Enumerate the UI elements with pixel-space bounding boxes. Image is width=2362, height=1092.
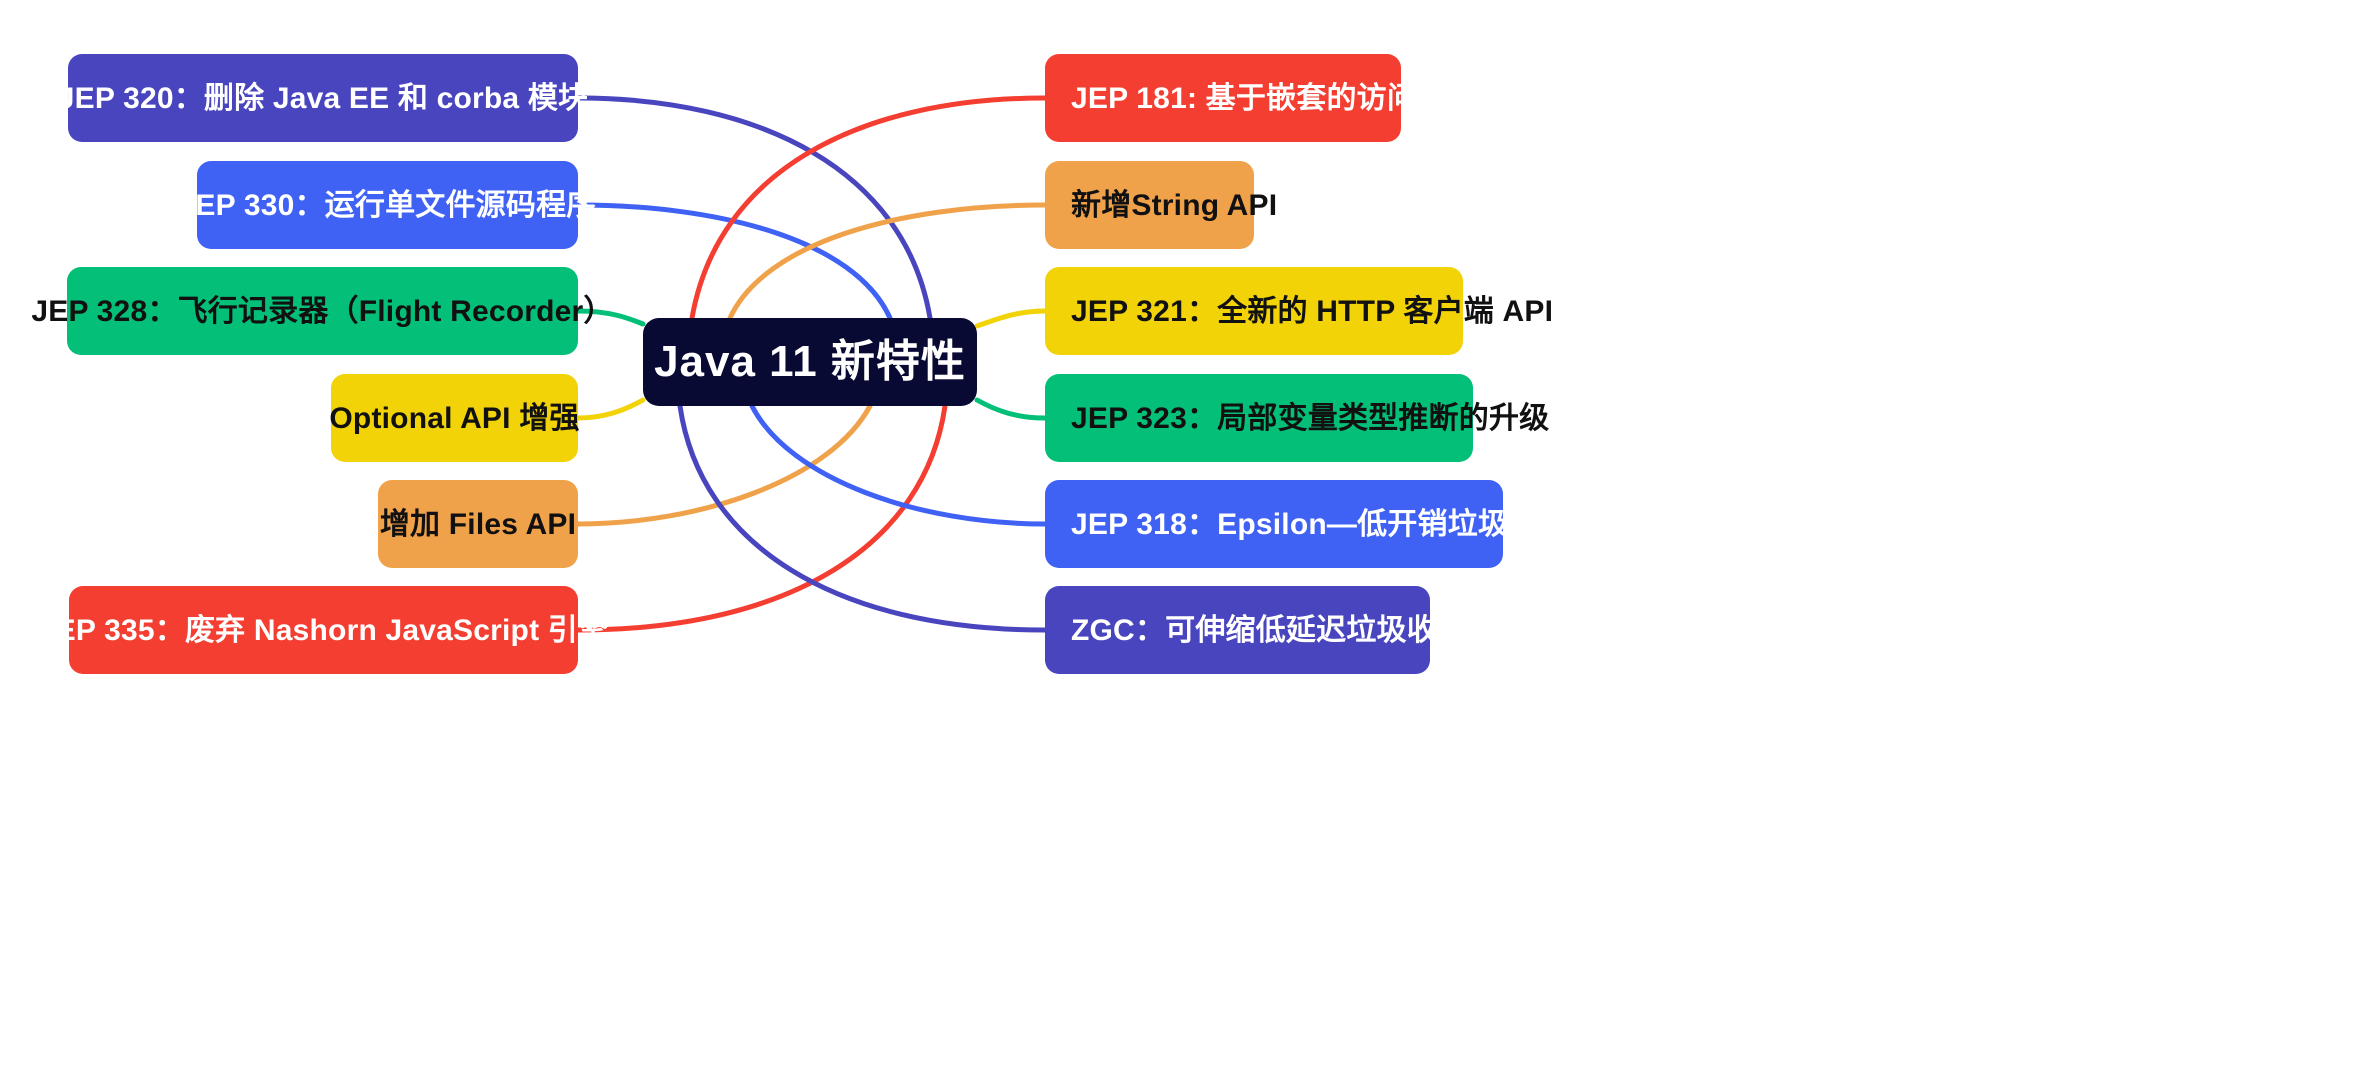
branch-node-label: 增加 Files API	[380, 508, 576, 541]
branch-node-jep-335-nashorn-javascript[interactable]: JEP 335：废弃 Nashorn JavaScript 引擎	[69, 586, 578, 674]
edge-jep320	[578, 98, 930, 318]
branch-node-files-api[interactable]: 增加 Files API	[378, 480, 578, 568]
branch-node-zgc[interactable]: ZGC：可伸缩低延迟垃圾收集器	[1045, 586, 1430, 674]
branch-node-jep-328-flight-recorder[interactable]: JEP 328：飞行记录器（Flight Recorder）	[67, 267, 578, 355]
center-node[interactable]: Java 11 新特性	[643, 318, 977, 406]
edge-jep181	[692, 98, 1045, 318]
branch-node-jep-323[interactable]: JEP 323：局部变量类型推断的升级	[1045, 374, 1473, 462]
branch-node-label: JEP 323：局部变量类型推断的升级	[1071, 402, 1549, 435]
branch-node-label: JEP 328：飞行记录器（Flight Recorder）	[31, 295, 613, 328]
branch-node-jep-318-epsilon[interactable]: JEP 318：Epsilon—低开销垃圾回收器	[1045, 480, 1503, 568]
branch-node-label: JEP 318：Epsilon—低开销垃圾回收器	[1071, 508, 1599, 541]
mindmap-canvas: JEP 320：删除 Java EE 和 corba 模块JEP 330：运行单…	[0, 0, 2362, 1092]
branch-node-optional-api[interactable]: Optional API 增强	[331, 374, 578, 462]
branch-node-label: JEP 321：全新的 HTTP 客户端 API	[1071, 295, 1553, 328]
center-node-label: Java 11 新特性	[654, 338, 966, 386]
edge-jep318	[752, 406, 1045, 524]
branch-node-label: JEP 320：删除 Java EE 和 corba 模块	[58, 82, 588, 115]
edge-jep323	[977, 400, 1045, 418]
edge-jep335	[578, 406, 945, 630]
edge-jep321	[977, 311, 1045, 326]
branch-node-label: Optional API 增强	[329, 402, 579, 435]
branch-node-jep-330[interactable]: JEP 330：运行单文件源码程序	[197, 161, 578, 249]
branch-node-string-api[interactable]: 新增String API	[1045, 161, 1254, 249]
branch-node-jep-181[interactable]: JEP 181: 基于嵌套的访问控制	[1045, 54, 1401, 142]
edge-jep330	[578, 205, 890, 318]
branch-node-jep-321-http-api[interactable]: JEP 321：全新的 HTTP 客户端 API	[1045, 267, 1463, 355]
branch-node-jep-320-java-ee-corba[interactable]: JEP 320：删除 Java EE 和 corba 模块	[68, 54, 578, 142]
edge-optional	[578, 400, 643, 418]
edge-string	[730, 205, 1045, 318]
branch-node-label: JEP 181: 基于嵌套的访问控制	[1071, 82, 1477, 115]
branch-node-label: ZGC：可伸缩低延迟垃圾收集器	[1071, 614, 1497, 647]
edge-files	[578, 406, 870, 524]
branch-node-label: JEP 330：运行单文件源码程序	[179, 189, 597, 222]
edge-zgc	[680, 406, 1045, 630]
branch-node-label: 新增String API	[1071, 189, 1277, 222]
branch-node-label: JEP 335：废弃 Nashorn JavaScript 引擎	[39, 614, 608, 647]
